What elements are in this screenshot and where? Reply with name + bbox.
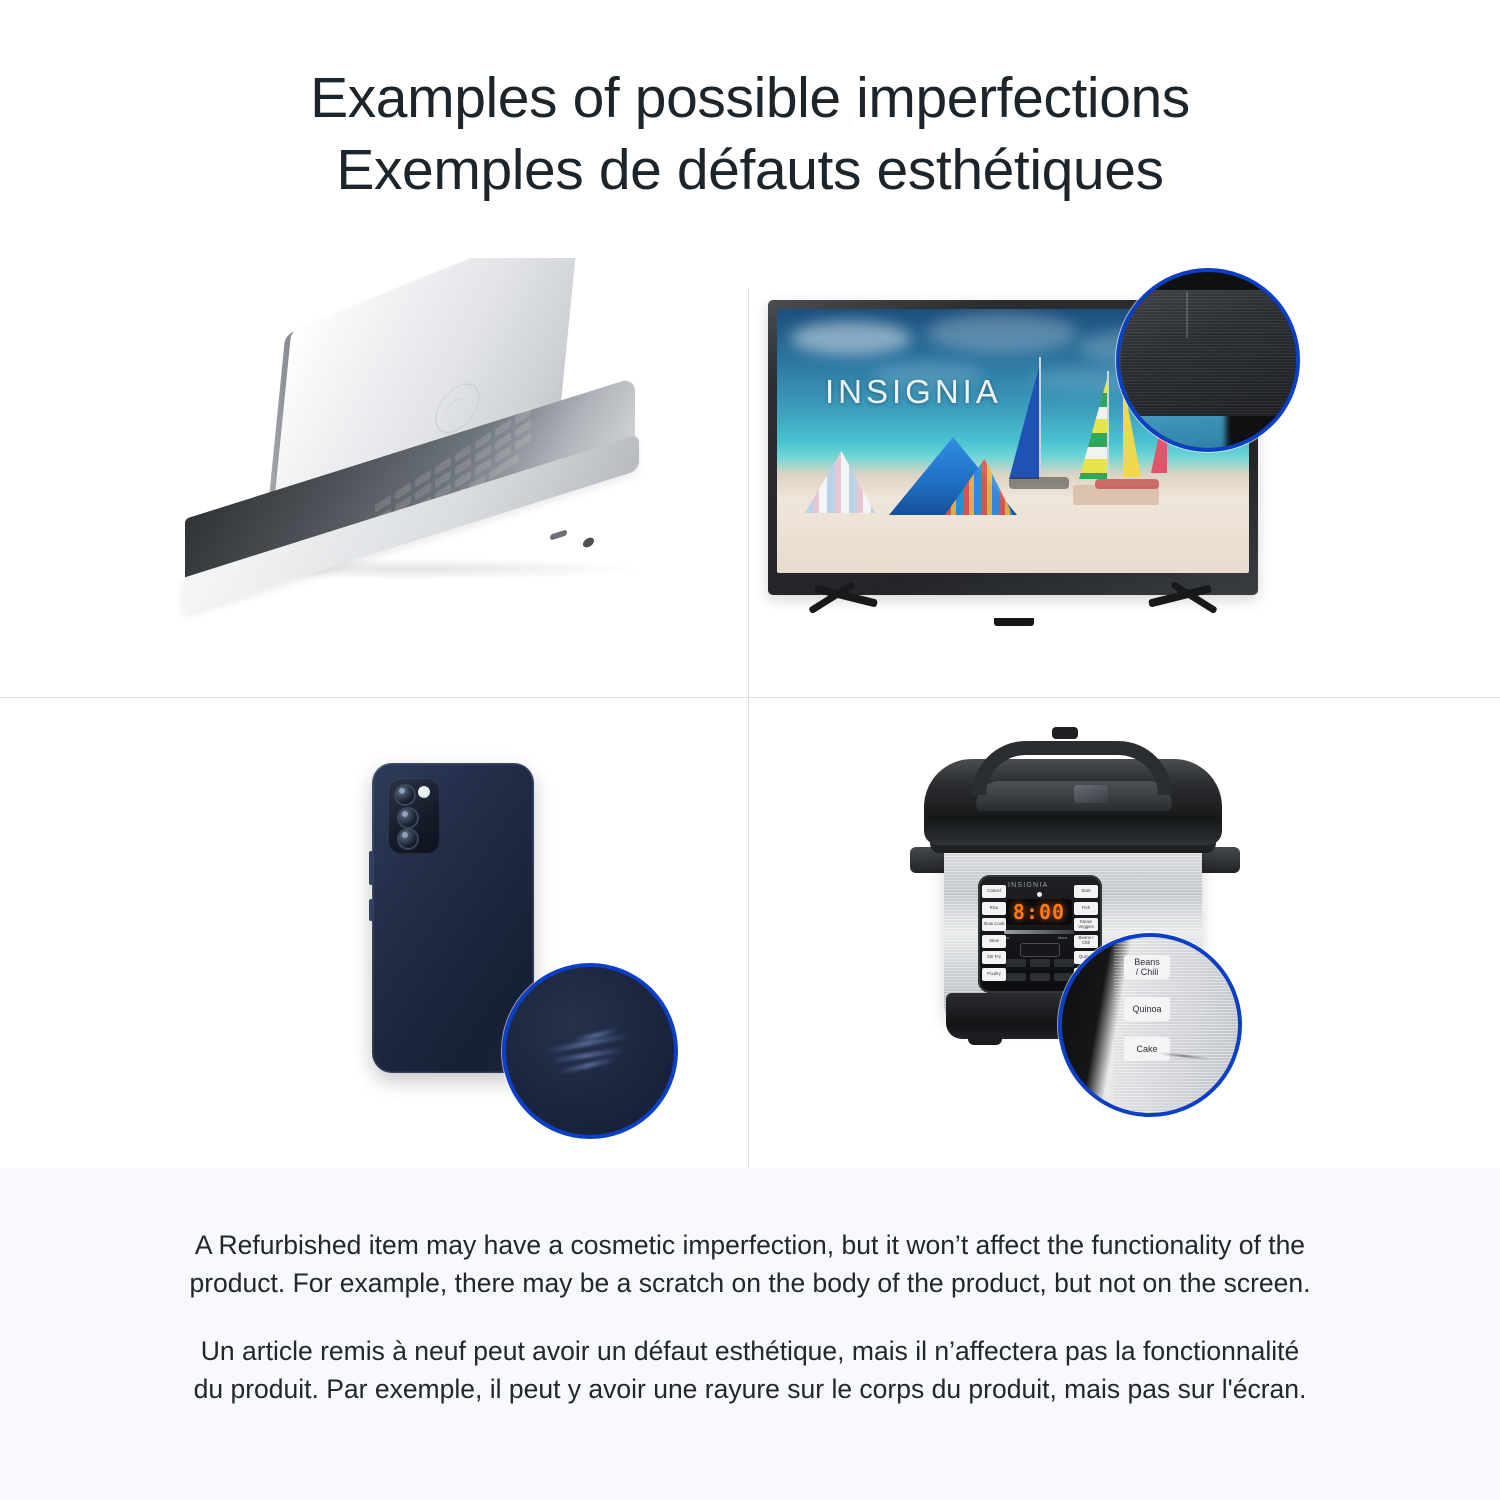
magnified-button-quinoa: Quinoa bbox=[1124, 997, 1170, 1021]
laptop-illustration bbox=[0, 258, 748, 697]
camera-lens-1-icon bbox=[394, 784, 416, 806]
pressure-cooker-illustration: INSIGNIA 8:00 Low More Cancel Rice Slow … bbox=[748, 697, 1500, 1168]
magnifier-phone-scratches bbox=[502, 963, 678, 1139]
page-footer: A Refurbished item may have a cosmetic i… bbox=[0, 1168, 1500, 1500]
page-header: Examples of possible imperfections Exemp… bbox=[0, 0, 1500, 258]
cooker-button-start[interactable]: Start bbox=[1074, 885, 1098, 898]
camera-lens-2-icon bbox=[397, 807, 419, 829]
cooker-foot-left bbox=[968, 1035, 1002, 1045]
cooker-button-saute[interactable] bbox=[1006, 973, 1026, 981]
magnified-button-cake: Cake bbox=[1124, 1037, 1170, 1061]
laptop-audio-port-icon bbox=[583, 536, 594, 548]
cooker-button-stew[interactable]: Stew bbox=[982, 935, 1006, 948]
cooker-button-beans-chili[interactable]: Beans / Chili bbox=[1074, 935, 1098, 948]
phone-volume-button bbox=[369, 851, 373, 885]
examples-grid: INSIGNIA bbox=[0, 258, 1500, 1168]
cooker-button-stir-fry[interactable]: Stir Fry bbox=[982, 951, 1006, 964]
camera-flash-icon bbox=[418, 786, 430, 798]
cooker-pressure-slider[interactable] bbox=[1004, 930, 1074, 934]
example-cell-television: INSIGNIA bbox=[748, 258, 1500, 697]
phone-camera-module bbox=[388, 778, 440, 854]
cooker-button-fish[interactable]: Fish bbox=[1074, 902, 1098, 915]
tv-logo-badge bbox=[994, 618, 1034, 626]
magnifier-tv-bezel bbox=[1116, 268, 1300, 452]
laptop-usb-port-icon bbox=[550, 529, 567, 540]
cooker-slider-label-high: More bbox=[1058, 935, 1067, 940]
bezel-seam bbox=[1186, 292, 1188, 338]
camera-lens-3-icon bbox=[397, 828, 419, 850]
cooker-mode-button[interactable] bbox=[1020, 943, 1060, 957]
tv-screen-logo: INSIGNIA bbox=[825, 373, 1002, 411]
cooker-button-manual[interactable] bbox=[1006, 959, 1026, 967]
example-cell-laptop bbox=[0, 258, 748, 697]
cooker-button-slow-cook[interactable]: Slow Cook bbox=[982, 918, 1006, 931]
cooker-button-slow-cook-2[interactable] bbox=[1030, 973, 1050, 981]
cooker-steam-valve-icon bbox=[1052, 727, 1078, 739]
footer-paragraph-en: A Refurbished item may have a cosmetic i… bbox=[183, 1226, 1318, 1302]
page-title-en: Examples of possible imperfections bbox=[310, 62, 1190, 134]
cooker-button-steam-veggies[interactable]: Steam Veggies bbox=[1074, 918, 1098, 931]
smartphone-illustration bbox=[0, 697, 748, 1168]
cooker-button-delay[interactable] bbox=[1054, 959, 1074, 967]
television-illustration: INSIGNIA bbox=[748, 258, 1500, 697]
magnifier-cooker-scratch: Beans/ Chili Quinoa Cake bbox=[1058, 933, 1242, 1117]
cooker-brand-label: INSIGNIA bbox=[1008, 882, 1048, 889]
cooker-button-rice[interactable]: Rice bbox=[982, 902, 1006, 915]
phone-power-button bbox=[369, 899, 373, 921]
footer-paragraph-fr: Un article remis à neuf peut avoir un dé… bbox=[183, 1332, 1318, 1408]
page-title-fr: Exemples de défauts esthétiques bbox=[336, 134, 1163, 206]
example-cell-pressure-cooker: INSIGNIA 8:00 Low More Cancel Rice Slow … bbox=[748, 697, 1500, 1168]
magnified-button-beans-chili: Beans/ Chili bbox=[1124, 955, 1170, 979]
cooker-button-poultry[interactable]: Poultry bbox=[982, 968, 1006, 981]
cooker-indicator-led bbox=[1037, 892, 1042, 897]
refurbished-imperfections-infographic: Examples of possible imperfections Exemp… bbox=[0, 0, 1500, 1500]
cooker-display: 8:00 bbox=[1006, 899, 1072, 925]
cooker-button-keep-warm[interactable] bbox=[1030, 959, 1050, 967]
laptop-base bbox=[185, 448, 645, 578]
example-cell-smartphone bbox=[0, 697, 748, 1168]
bezel-texture bbox=[1120, 290, 1300, 416]
cooker-handle bbox=[972, 741, 1172, 795]
cooker-left-button-column: Cancel Rice Slow Cook Stew Stir Fry Poul… bbox=[982, 885, 1006, 984]
cooker-display-value: 8:00 bbox=[1013, 900, 1065, 924]
cooker-button-cancel[interactable]: Cancel bbox=[982, 885, 1006, 898]
